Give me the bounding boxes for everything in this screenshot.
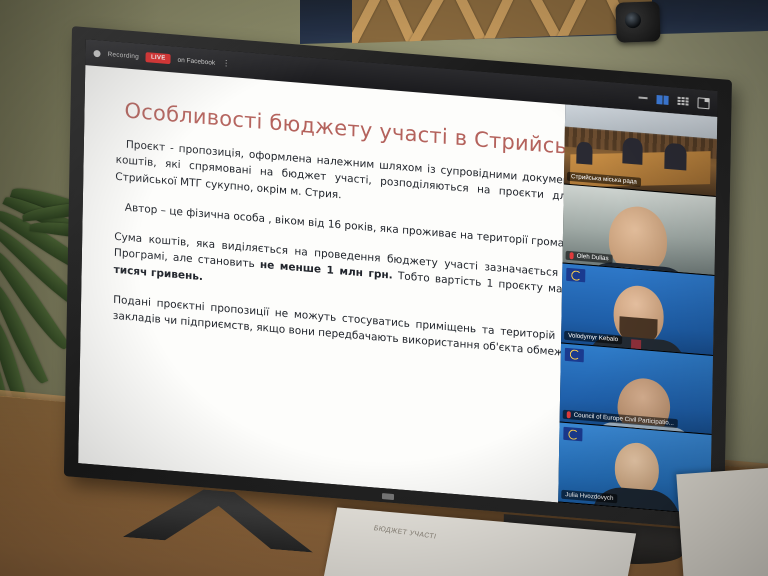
participant-name-text: Volodymyr Kebalo [568, 332, 618, 343]
more-options-icon[interactable]: ⋮ [222, 60, 230, 67]
council-of-europe-logo-icon [566, 268, 585, 283]
paper-sheet [676, 466, 768, 576]
participant-name: Oleh Dulias [566, 251, 613, 264]
mute-icon [570, 252, 574, 259]
gallery-view-icon[interactable] [677, 96, 688, 106]
participant-name-text: Oleh Dulias [577, 253, 609, 263]
menu-bar-icon[interactable] [639, 96, 648, 99]
participant-tile[interactable]: Oleh Dulias [562, 184, 715, 276]
room-photo-scene: Recording LIVE on Facebook ⋮ О [0, 0, 768, 576]
tv-bezel: Recording LIVE on Facebook ⋮ О [64, 26, 732, 530]
tv-brand-logo [382, 493, 394, 500]
council-of-europe-logo-icon [565, 348, 584, 363]
participant-tile[interactable]: Council of Europe Civil Participatio... [560, 343, 713, 435]
mute-icon [567, 411, 571, 418]
minimize-icon[interactable] [697, 97, 709, 109]
paper-caption: БЮДЖЕТ УЧАСТІ [373, 525, 437, 541]
live-badge: LIVE [146, 52, 171, 64]
recording-indicator-icon [93, 49, 100, 57]
tv-screen: Recording LIVE on Facebook ⋮ О [78, 39, 718, 515]
participant-name-text: Julia Hvozdovych [565, 491, 613, 502]
council-of-europe-logo-icon [563, 427, 582, 442]
recording-label: Recording [107, 50, 139, 60]
participant-name: Volodymyr Kebalo [564, 331, 622, 345]
participant-video-strip: Стрийська міська рада Oleh Dulias [558, 105, 717, 515]
television: Recording LIVE on Facebook ⋮ О [64, 26, 760, 552]
participant-tile[interactable]: Стрийська міська рада [564, 105, 717, 197]
participant-tile[interactable]: Volodymyr Kebalo [561, 264, 714, 356]
speaker-view-icon[interactable] [656, 94, 668, 104]
streaming-target-label: on Facebook [177, 56, 215, 66]
view-controls [638, 92, 709, 109]
webcam-icon [615, 1, 660, 43]
